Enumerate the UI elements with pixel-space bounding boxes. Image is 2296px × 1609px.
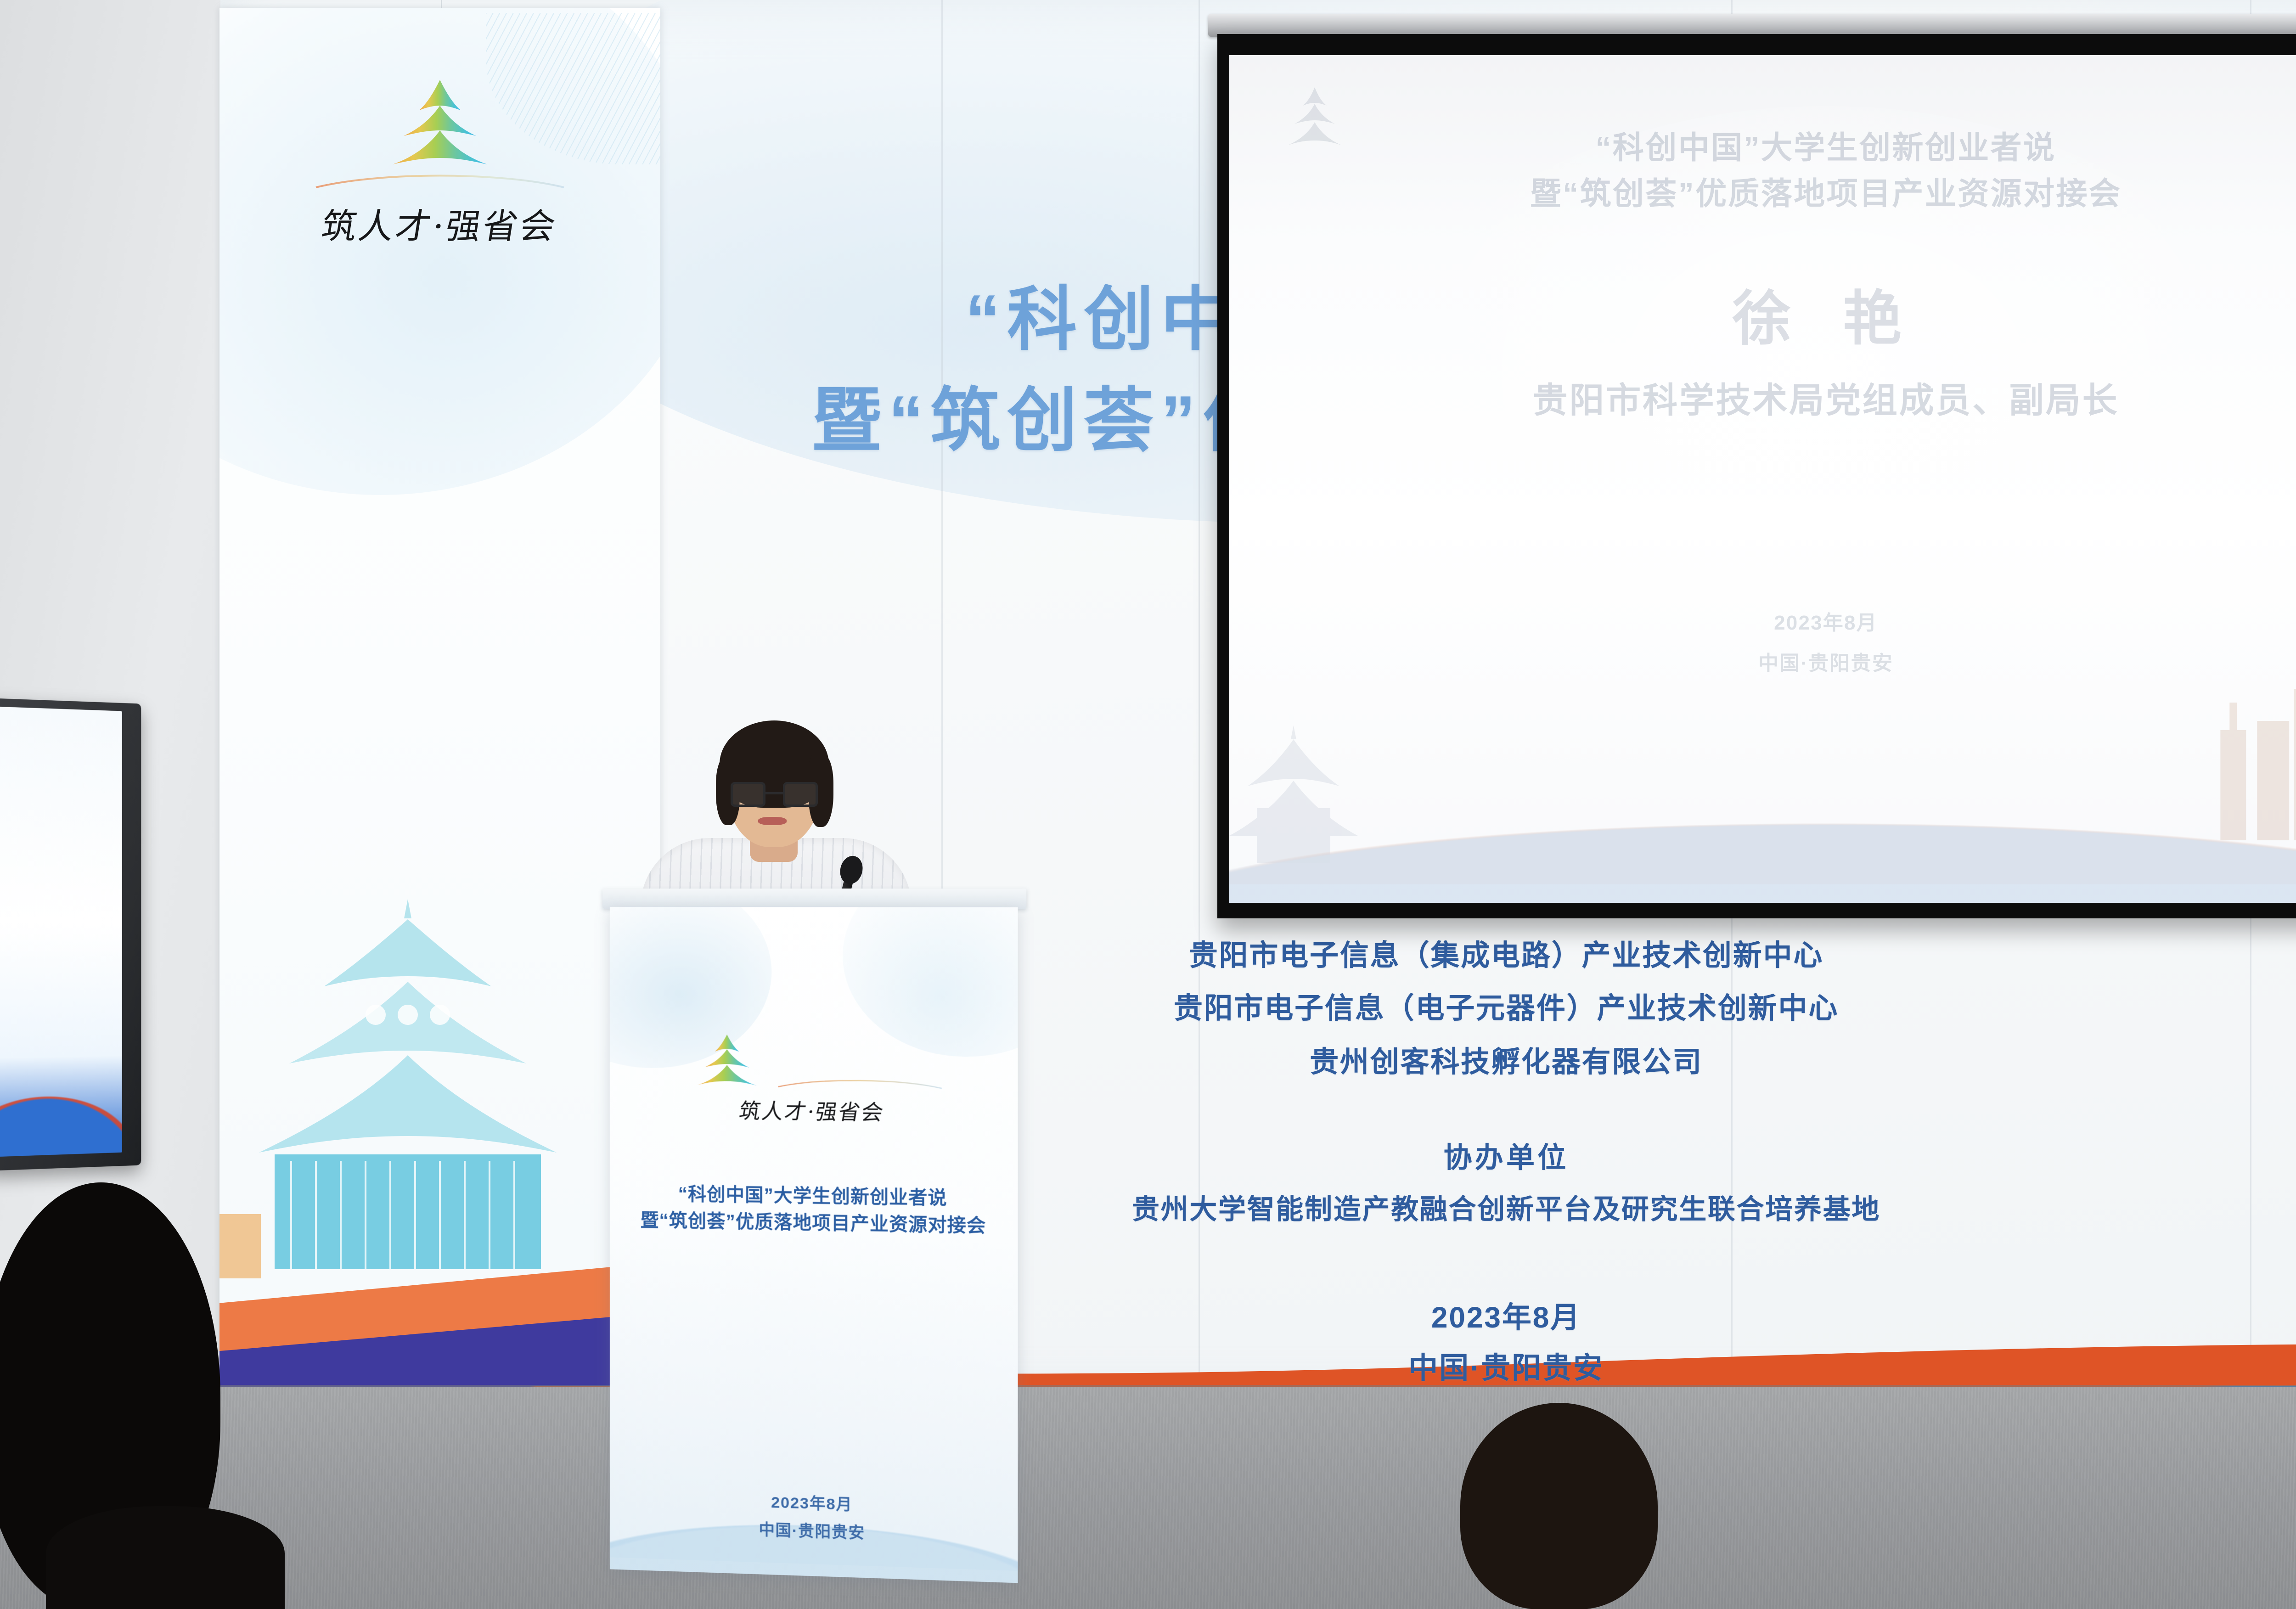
audience-head-left-lower bbox=[46, 1506, 285, 1609]
slide-title-line-1: “科创中国”大学生创新创业者说 bbox=[1229, 122, 2296, 168]
rollup-banner: 筑人才·强省会 bbox=[219, 8, 660, 1386]
speaker-person bbox=[668, 705, 879, 916]
projection-screen-assembly: “科创中国”大学生创新创业者说 暨“筑创荟”优质落地项目产业资源对接会 徐 艳 … bbox=[1205, 14, 2296, 937]
rollup-bottom-art bbox=[219, 844, 660, 1386]
slide-speaker-title: 贵阳市科学技术局党组成员、副局长 bbox=[1229, 372, 2296, 422]
pagoda-gradient-svg bbox=[364, 77, 516, 174]
lectern-logo: 筑人才·强省会 bbox=[610, 1032, 1018, 1128]
lectern-logo-caption: 筑人才·强省会 bbox=[610, 1093, 1018, 1128]
lectern-front-panel: 筑人才·强省会 “科创中国”大学生创新创业者说 暨“筑创荟”优质落地项目产业资源… bbox=[610, 907, 1018, 1583]
lectern-title-line-2: 暨“筑创荟”优质落地项目产业资源对接会 bbox=[610, 1204, 1018, 1238]
monitor-partial-text: 会 bbox=[0, 857, 69, 914]
monitor-screen: 会 bbox=[0, 707, 122, 1157]
logo-arc-icon bbox=[776, 1076, 945, 1090]
slide-speaker-name: 徐 艳 bbox=[1229, 271, 2296, 356]
screen-black-frame: “科创中国”大学生创新创业者说 暨“筑创荟”优质落地项目产业资源对接会 徐 艳 … bbox=[1217, 34, 2296, 918]
stage-floor bbox=[0, 1387, 2296, 1609]
rollup-logo: 筑人才·强省会 bbox=[219, 77, 660, 248]
slide-wave-blue bbox=[1229, 751, 2296, 903]
pagoda-gradient-icon bbox=[364, 77, 516, 174]
pagoda-gradient-icon bbox=[681, 1032, 773, 1088]
side-monitor: 会 bbox=[0, 698, 141, 1171]
lectern: 筑人才·强省会 “科创中国”大学生创新创业者说 暨“筑创荟”优质落地项目产业资源… bbox=[605, 889, 1026, 1592]
projected-slide: “科创中国”大学生创新创业者说 暨“筑创荟”优质落地项目产业资源对接会 徐 艳 … bbox=[1229, 55, 2296, 903]
speaker-mouth bbox=[758, 817, 787, 825]
lectern-top-surface bbox=[602, 889, 1026, 909]
slide-place: 中国·贵阳贵安 bbox=[1229, 647, 2296, 676]
monitor-blue-wave bbox=[0, 1054, 122, 1157]
slide-date: 2023年8月 bbox=[1229, 606, 2296, 636]
glasses-icon bbox=[731, 782, 818, 807]
rollup-logo-caption: 筑人才·强省会 bbox=[219, 198, 660, 248]
conference-photo-scene: “科创中国”大学生创新创业者说 暨“筑创荟”优质落地项目产业资源对接会 贵阳市电… bbox=[0, 0, 2296, 1609]
audience-head-center bbox=[1460, 1403, 1658, 1609]
screen-roller-housing bbox=[1208, 14, 2296, 37]
slide-title-line-2: 暨“筑创荟”优质落地项目产业资源对接会 bbox=[1229, 168, 2296, 214]
